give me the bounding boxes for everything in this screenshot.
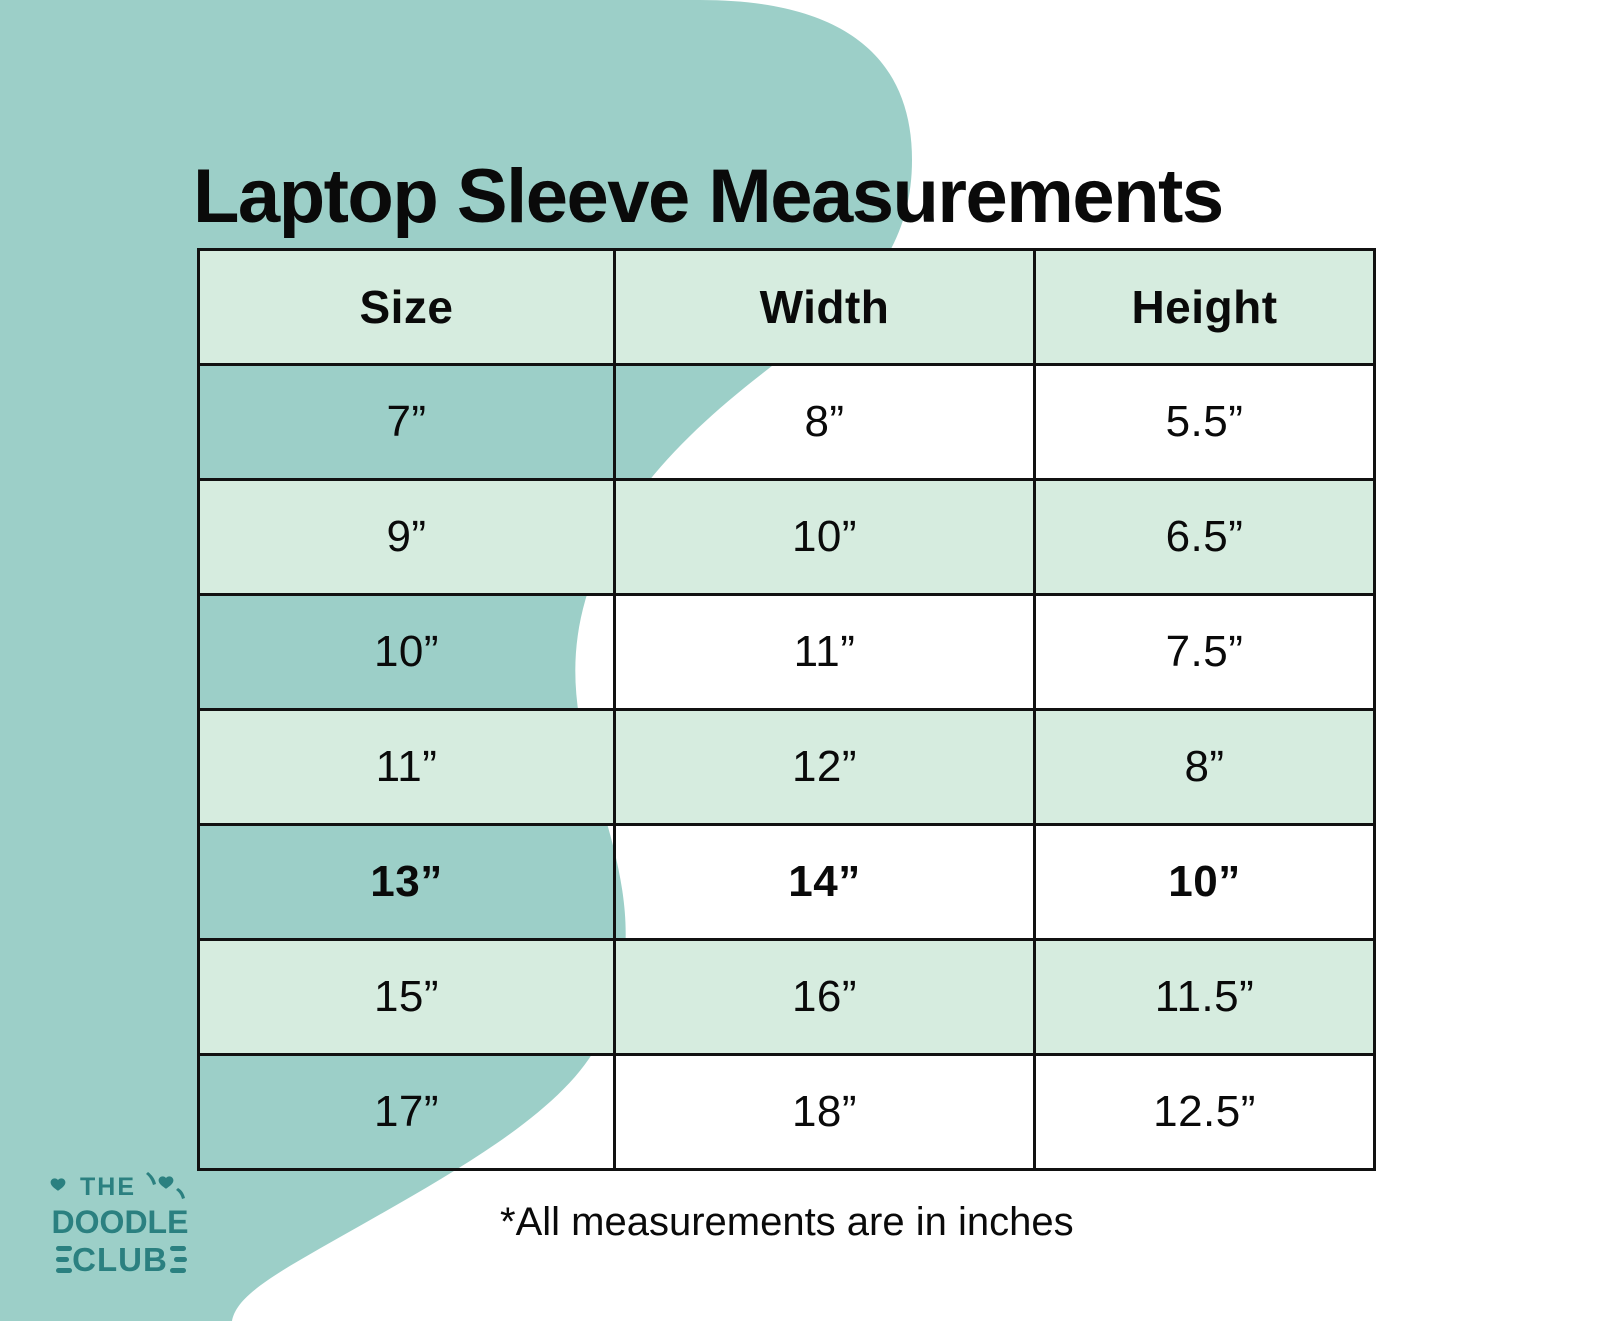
table-header-row: Size Width Height <box>199 250 1375 365</box>
cell-width: 12” <box>615 710 1035 825</box>
cell-size: 9” <box>199 480 615 595</box>
cell-width: 10” <box>615 480 1035 595</box>
table-row: 10”11”7.5” <box>199 595 1375 710</box>
column-header-height: Height <box>1035 250 1375 365</box>
cell-height: 5.5” <box>1035 365 1375 480</box>
brand-logo: THE DOODLE CLUB <box>44 1158 196 1282</box>
cell-size: 13” <box>199 825 615 940</box>
cell-width: 8” <box>615 365 1035 480</box>
column-header-width: Width <box>615 250 1035 365</box>
cell-width: 14” <box>615 825 1035 940</box>
heart-icon <box>51 1178 66 1190</box>
infographic-canvas: Laptop Sleeve Measurements Size Width He… <box>0 0 1600 1321</box>
cell-size: 17” <box>199 1055 615 1170</box>
logo-line-3: CLUB <box>72 1241 168 1278</box>
table-body: 7”8”5.5”9”10”6.5”10”11”7.5”11”12”8”13”14… <box>199 365 1375 1170</box>
table-row: 11”12”8” <box>199 710 1375 825</box>
cell-height: 8” <box>1035 710 1375 825</box>
cell-width: 11” <box>615 595 1035 710</box>
cell-height: 7.5” <box>1035 595 1375 710</box>
cell-height: 10” <box>1035 825 1375 940</box>
logo-line-1: THE <box>80 1173 136 1201</box>
measurements-table: Size Width Height 7”8”5.5”9”10”6.5”10”11… <box>197 248 1376 1171</box>
cell-size: 7” <box>199 365 615 480</box>
cell-size: 10” <box>199 595 615 710</box>
cell-height: 6.5” <box>1035 480 1375 595</box>
table-row: 9”10”6.5” <box>199 480 1375 595</box>
table-row: 7”8”5.5” <box>199 365 1375 480</box>
cell-width: 16” <box>615 940 1035 1055</box>
table-row: 15”16”11.5” <box>199 940 1375 1055</box>
cell-height: 12.5” <box>1035 1055 1375 1170</box>
column-header-size: Size <box>199 250 615 365</box>
table-row: 17”18”12.5” <box>199 1055 1375 1170</box>
page-title: Laptop Sleeve Measurements <box>193 155 1223 239</box>
footer-note: *All measurements are in inches <box>500 1198 1074 1246</box>
cell-size: 15” <box>199 940 615 1055</box>
table-row: 13”14”10” <box>199 825 1375 940</box>
cell-height: 11.5” <box>1035 940 1375 1055</box>
cell-width: 18” <box>615 1055 1035 1170</box>
logo-line-2: DOODLE <box>52 1204 189 1240</box>
cell-size: 11” <box>199 710 615 825</box>
heart-icon <box>159 1176 174 1188</box>
